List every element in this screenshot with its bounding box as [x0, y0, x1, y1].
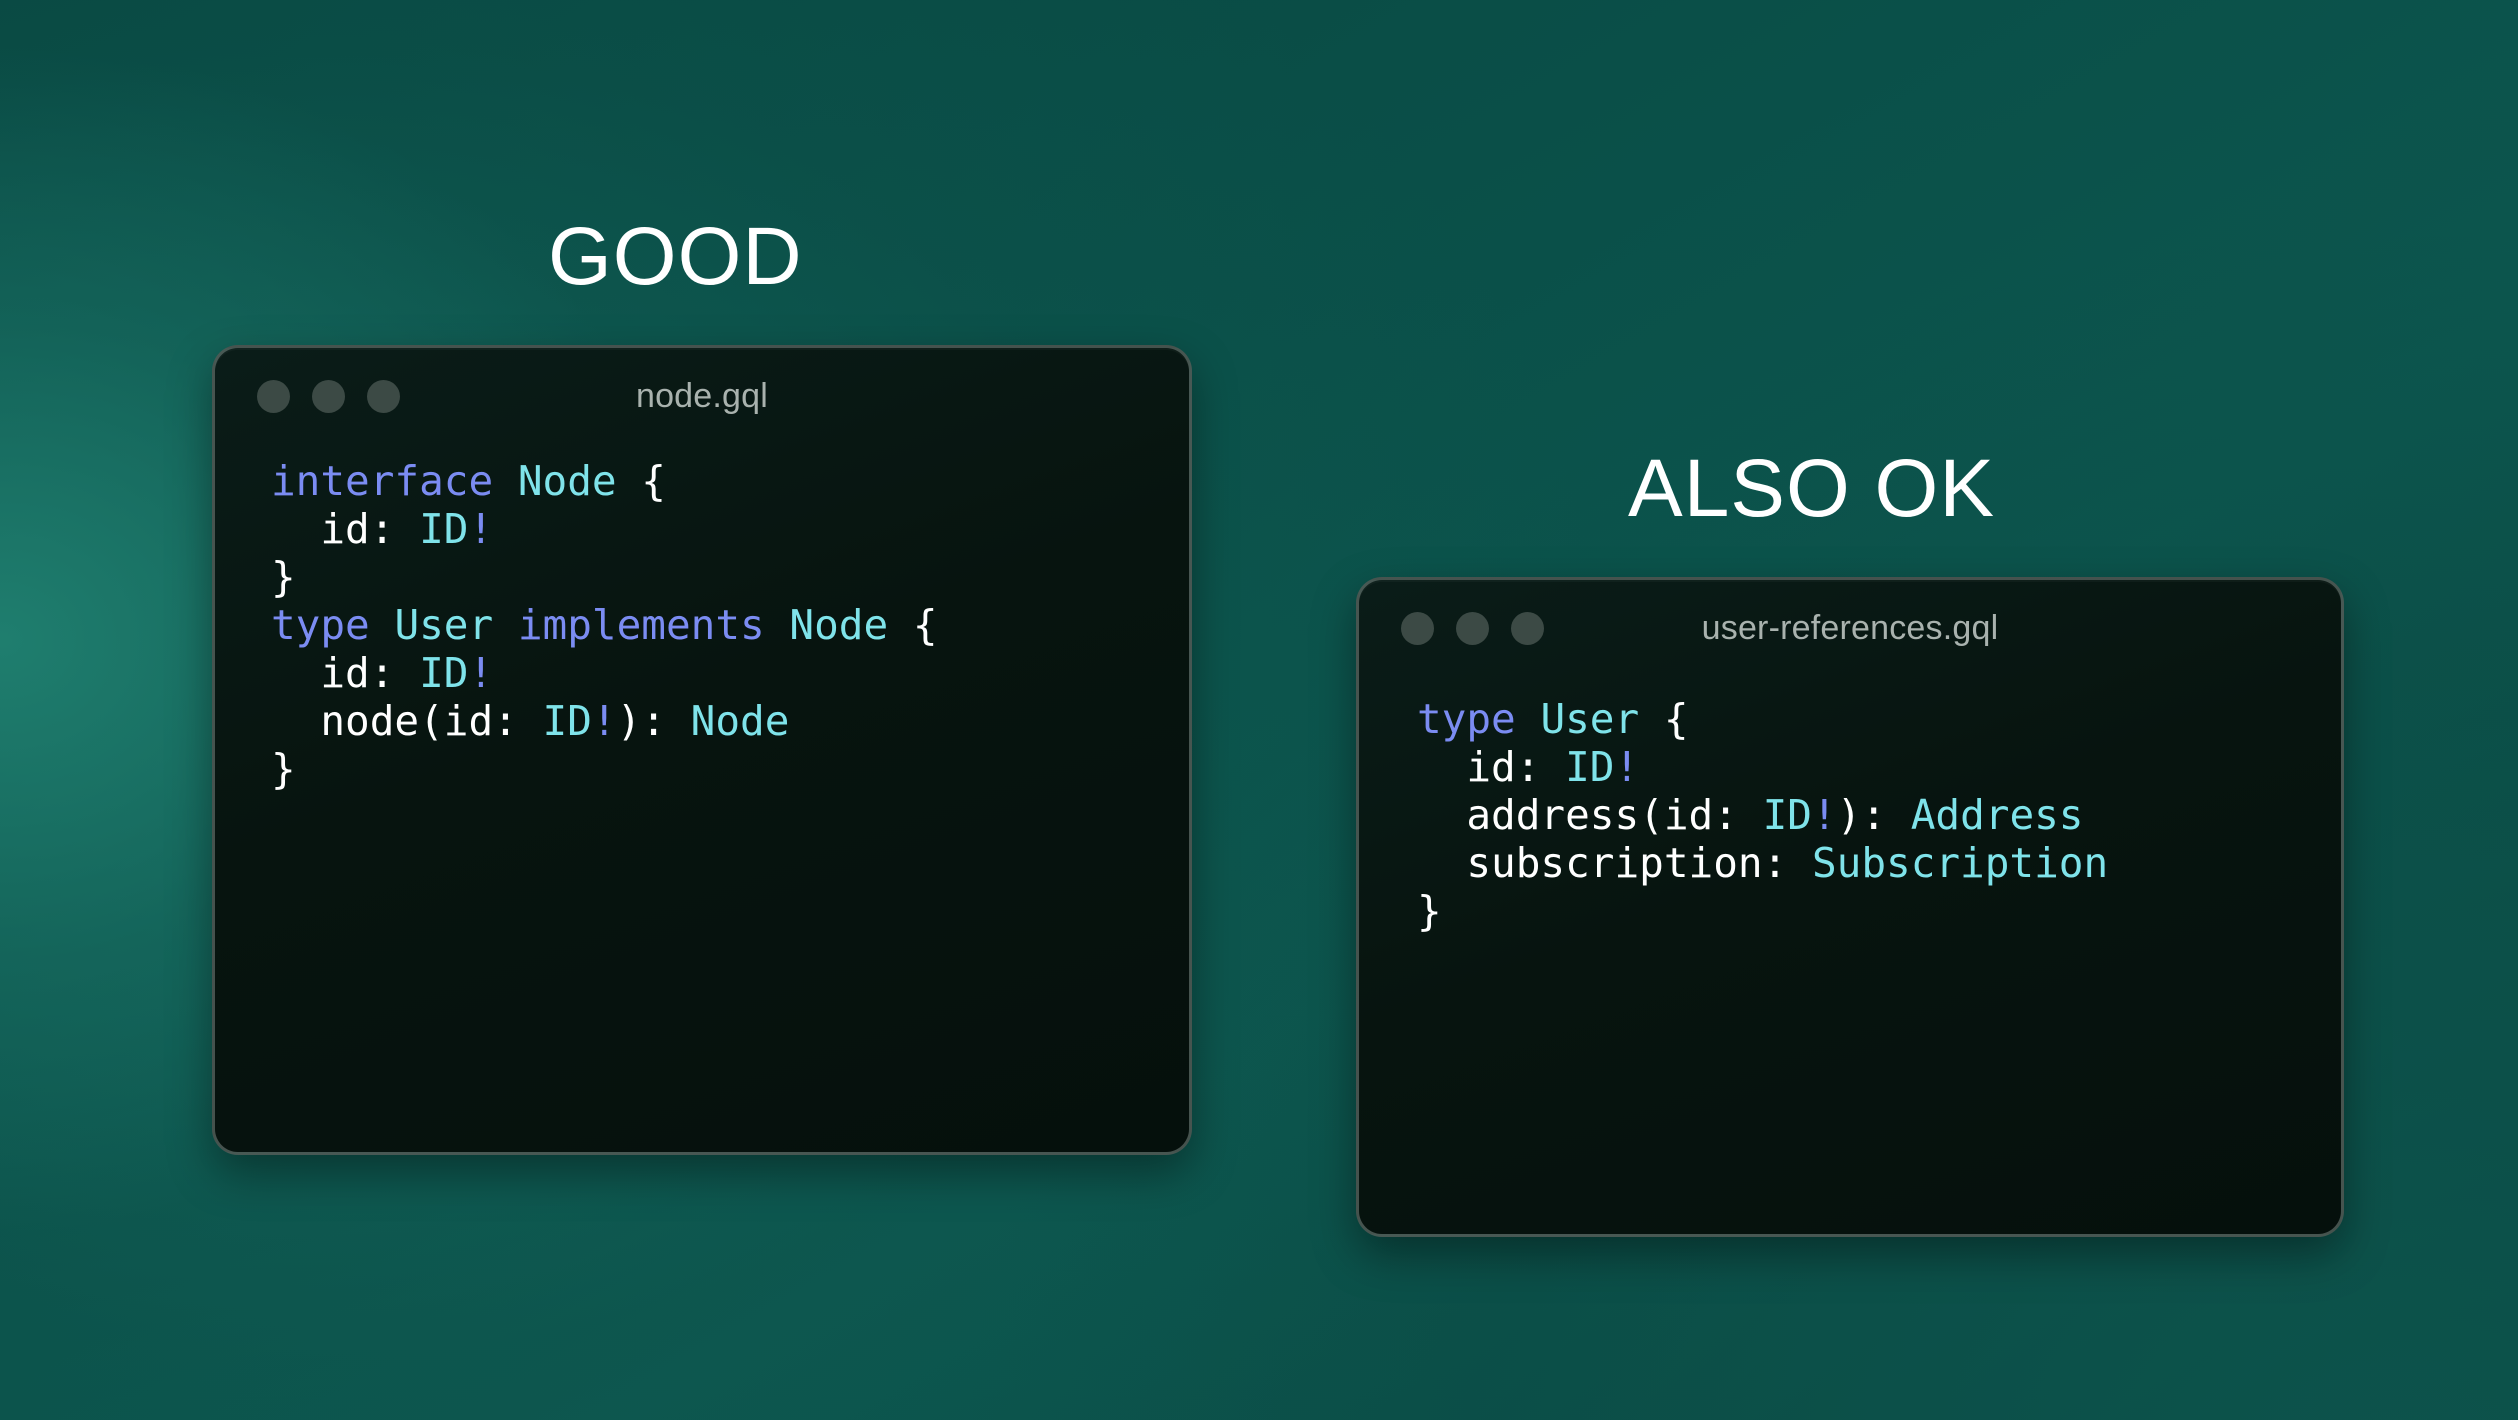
traffic-lights [257, 380, 400, 413]
code-token: ! [468, 505, 493, 553]
code-line: address(id: ID!): Address [1417, 792, 2341, 840]
code-token [765, 601, 790, 649]
code-token: ! [1812, 791, 1837, 839]
traffic-lights [1401, 612, 1544, 645]
minimize-dot-icon[interactable] [312, 380, 345, 413]
minimize-dot-icon[interactable] [1456, 612, 1489, 645]
section-title-also-ok: ALSO OK [1628, 448, 1995, 530]
code-token [493, 601, 518, 649]
code-line: } [271, 554, 1189, 602]
code-line: node(id: ID!): Node [271, 698, 1189, 746]
code-token: id: [271, 649, 419, 697]
code-token: { [1639, 695, 1688, 743]
code-token: type [1417, 695, 1516, 743]
code-line: subscription: Subscription [1417, 840, 2341, 888]
code-token [370, 601, 395, 649]
code-token: Node [518, 457, 617, 505]
code-token: ): [617, 697, 691, 745]
section-title-good: GOOD [548, 216, 803, 298]
maximize-dot-icon[interactable] [1511, 612, 1544, 645]
code-line: id: ID! [271, 650, 1189, 698]
code-token: type [271, 601, 370, 649]
window-titlebar: user-references.gql [1359, 580, 2341, 676]
code-token: ): [1837, 791, 1911, 839]
code-token: id: [1417, 743, 1565, 791]
code-token: } [1417, 887, 1442, 935]
code-token: ID [543, 697, 592, 745]
code-line: id: ID! [271, 506, 1189, 554]
code-token: ID [419, 649, 468, 697]
close-dot-icon[interactable] [1401, 612, 1434, 645]
code-token: User [1540, 695, 1639, 743]
code-line: } [271, 746, 1189, 794]
code-token: subscription: [1417, 839, 1812, 887]
code-token: ID [1565, 743, 1614, 791]
code-token [1516, 695, 1541, 743]
slide-canvas: GOOD node.gql interface Node { id: ID!}t… [0, 0, 2518, 1420]
code-token: ID [419, 505, 468, 553]
code-token: User [394, 601, 493, 649]
code-token: } [271, 553, 296, 601]
code-token: Node [691, 697, 790, 745]
code-token: ! [468, 649, 493, 697]
code-token: Subscription [1812, 839, 2108, 887]
code-token [493, 457, 518, 505]
close-dot-icon[interactable] [257, 380, 290, 413]
code-line: type User { [1417, 696, 2341, 744]
code-token: { [617, 457, 666, 505]
window-titlebar: node.gql [215, 348, 1189, 444]
code-token: id: [271, 505, 419, 553]
code-token: Address [1911, 791, 2084, 839]
code-token: { [888, 601, 937, 649]
code-token: } [271, 745, 296, 793]
code-token: Node [789, 601, 888, 649]
code-line: type User implements Node { [271, 602, 1189, 650]
code-token: ! [592, 697, 617, 745]
code-window-good: node.gql interface Node { id: ID!}type U… [212, 345, 1192, 1155]
code-token: ! [1614, 743, 1639, 791]
maximize-dot-icon[interactable] [367, 380, 400, 413]
code-token: address(id: [1417, 791, 1763, 839]
code-line: id: ID! [1417, 744, 2341, 792]
code-block: type User { id: ID! address(id: ID!): Ad… [1359, 676, 2341, 936]
code-line: interface Node { [271, 458, 1189, 506]
code-block: interface Node { id: ID!}type User imple… [215, 444, 1189, 794]
code-token: interface [271, 457, 493, 505]
code-window-also-ok: user-references.gql type User { id: ID! … [1356, 577, 2344, 1237]
code-line: } [1417, 888, 2341, 936]
code-token: ID [1763, 791, 1812, 839]
code-token: implements [518, 601, 765, 649]
code-token: node(id: [271, 697, 543, 745]
